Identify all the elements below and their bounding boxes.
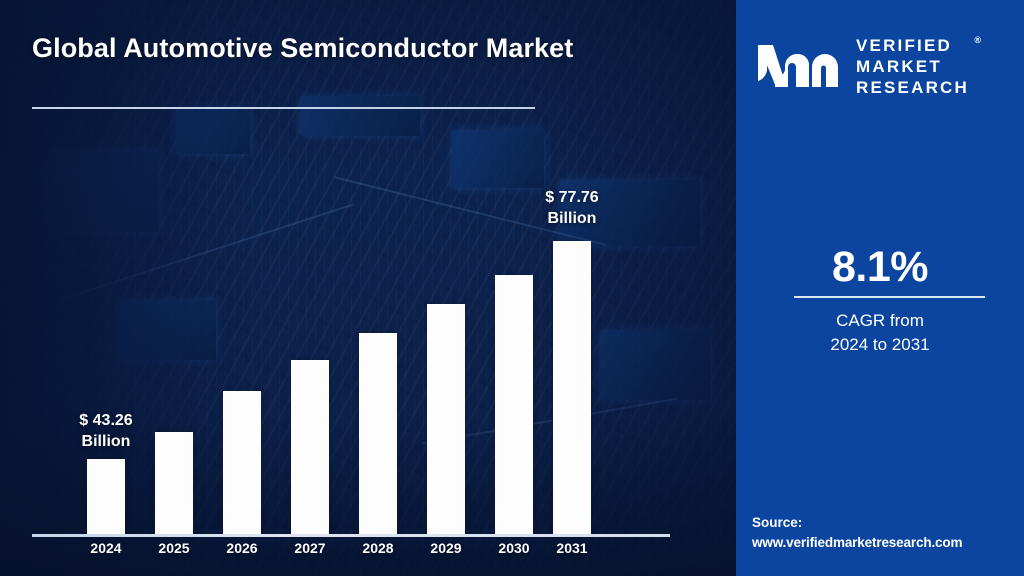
chart-panel: Global Automotive Semiconductor Market 2…	[0, 0, 736, 576]
value-callout-2031: $ 77.76 Billion	[512, 187, 632, 229]
logo-wordmark-line-1: VERIFIED	[856, 35, 969, 56]
source-attribution: Source: www.verifiedmarketresearch.com	[752, 513, 1024, 553]
logo[interactable]: VERIFIED MARKET RESEARCH ®	[756, 28, 1008, 104]
bar-2031[interactable]	[553, 241, 591, 534]
source-url[interactable]: www.verifiedmarketresearch.com	[752, 533, 1024, 553]
logo-wordmark: VERIFIED MARKET RESEARCH ®	[856, 35, 969, 98]
cagr-caption: CAGR from 2024 to 2031	[736, 309, 1024, 357]
bar-2024[interactable]	[87, 459, 125, 534]
brand-panel: VERIFIED MARKET RESEARCH ® 8.1% CAGR fro…	[736, 0, 1024, 576]
cagr-value: 8.1%	[736, 243, 1024, 292]
bar-2030[interactable]	[495, 275, 533, 534]
cagr-divider	[794, 296, 985, 298]
bar-2026[interactable]	[223, 391, 261, 534]
bar-2027[interactable]	[291, 360, 329, 534]
logo-wordmark-line-3: RESEARCH	[856, 77, 969, 98]
infographic-root: Global Automotive Semiconductor Market 2…	[0, 0, 1024, 576]
bar-chart: 2024 2025 2026 2027 2028 2029 2030 2031	[0, 0, 736, 576]
logo-wordmark-line-2: MARKET	[856, 56, 969, 77]
vm-logo-mark-icon	[756, 41, 842, 91]
x-tick-label-2031: 2031	[532, 540, 612, 556]
source-label: Source:	[752, 515, 802, 530]
bar-2028[interactable]	[359, 333, 397, 534]
bar-2029[interactable]	[427, 304, 465, 534]
x-axis-line	[32, 534, 670, 537]
registered-trademark-icon: ®	[974, 30, 981, 51]
value-callout-2024: $ 43.26 Billion	[46, 410, 166, 452]
